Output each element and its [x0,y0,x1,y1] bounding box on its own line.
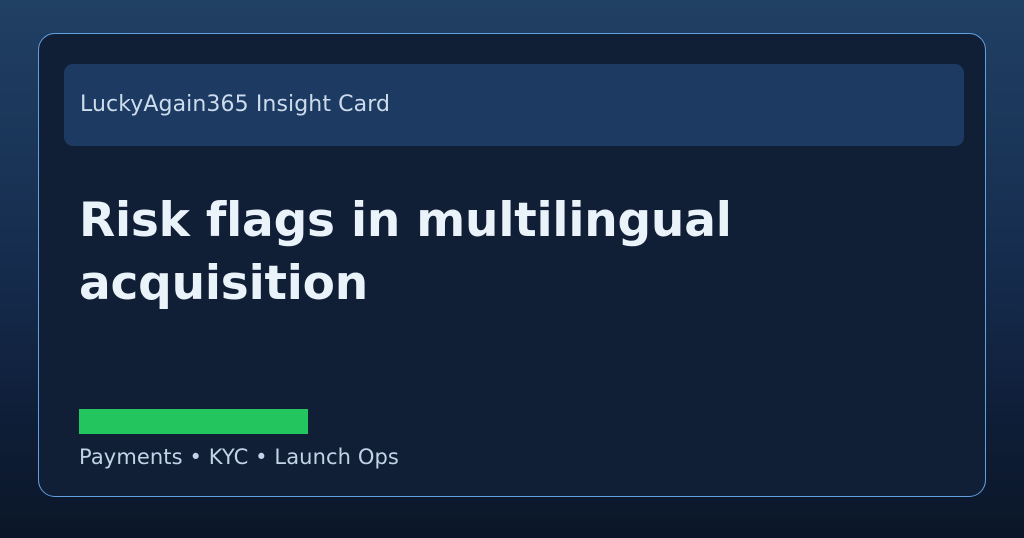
card-footer: Payments • KYC • Launch Ops [79,409,939,470]
insight-card: LuckyAgain365 Insight Card Risk flags in… [38,33,986,497]
insight-card-page: LuckyAgain365 Insight Card Risk flags in… [0,0,1024,538]
card-header-title: LuckyAgain365 Insight Card [80,94,390,116]
card-headline: Risk flags in multilingual acquisition [79,189,839,315]
footer-tags: Payments • KYC • Launch Ops [79,444,939,470]
card-header-band: LuckyAgain365 Insight Card [64,64,964,146]
accent-bar [79,409,308,434]
